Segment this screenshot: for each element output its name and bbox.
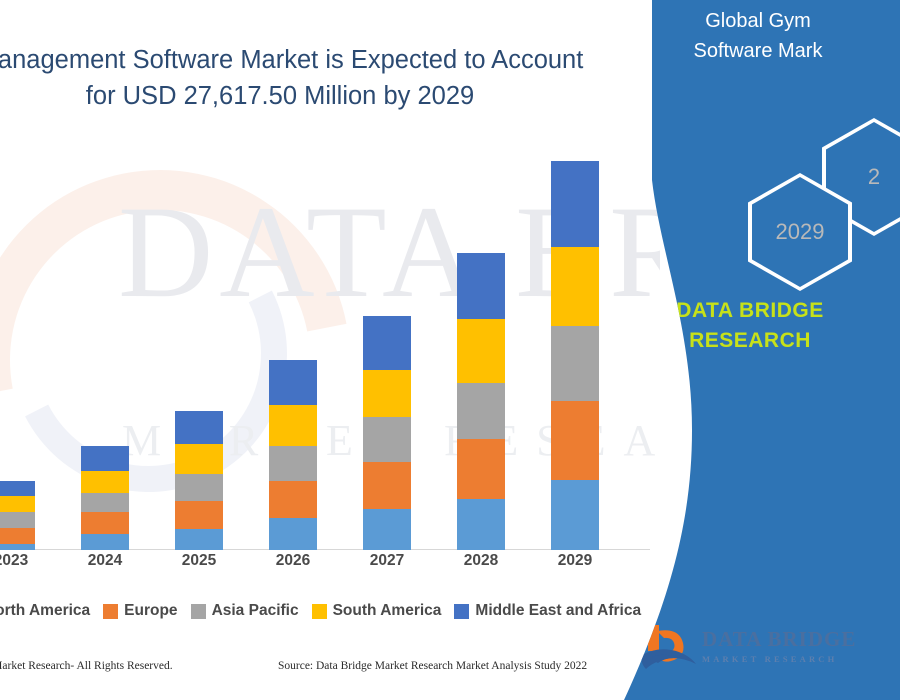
x-tick-2025: 2025	[159, 552, 239, 570]
bar-segment[interactable]	[363, 462, 411, 509]
bar-segment[interactable]	[81, 471, 129, 493]
x-axis-tick-labels: 2023202420252026202720282029	[0, 552, 650, 578]
chart-plot-area	[0, 150, 650, 550]
x-tick-2024: 2024	[65, 552, 145, 570]
bar-segment[interactable]	[457, 253, 505, 319]
bar-segment[interactable]	[175, 529, 223, 550]
legend-swatch	[103, 604, 118, 619]
logo-subtitle: MARKET RESEARCH	[702, 654, 892, 664]
bar-segment[interactable]	[551, 161, 599, 246]
bar-column-2025[interactable]	[175, 411, 223, 550]
bar-segment[interactable]	[457, 439, 505, 499]
bar-segment[interactable]	[0, 528, 35, 544]
x-tick-2026: 2026	[253, 552, 333, 570]
x-tick-2028: 2028	[441, 552, 521, 570]
bar-segment[interactable]	[175, 444, 223, 474]
bar-segment[interactable]	[0, 512, 35, 528]
bar-segment[interactable]	[551, 326, 599, 402]
bar-segment[interactable]	[0, 496, 35, 512]
legend-label: Asia Pacific	[212, 602, 299, 620]
footer: Bridge Market Research- All Rights Reser…	[0, 660, 660, 688]
bar-segment[interactable]	[269, 405, 317, 446]
bar-column-2023[interactable]	[0, 481, 35, 551]
legend-swatch	[454, 604, 469, 619]
bar-segment[interactable]	[457, 499, 505, 550]
legend-item-north-america[interactable]: North America	[0, 602, 90, 620]
x-tick-2027: 2027	[347, 552, 427, 570]
infographic-canvas: DATA BRIDGE MARKET RESEARCH Management S…	[0, 0, 900, 700]
hexagon-secondary-label: 2	[868, 164, 880, 190]
bar-segment[interactable]	[269, 481, 317, 519]
x-tick-2029: 2029	[535, 552, 615, 570]
data-bridge-logo: DATA BRIDGE MARKET RESEARCH	[640, 619, 890, 681]
legend-item-south-america[interactable]: South America	[312, 602, 442, 620]
bar-column-2028[interactable]	[457, 253, 505, 550]
chart-legend: North AmericaEuropeAsia PacificSouth Ame…	[0, 598, 650, 624]
bar-segment[interactable]	[551, 401, 599, 480]
bar-segment[interactable]	[269, 518, 317, 550]
bar-segment[interactable]	[363, 509, 411, 550]
bar-segment[interactable]	[0, 481, 35, 497]
bar-segment[interactable]	[457, 383, 505, 440]
data-bridge-logo-mark	[640, 621, 698, 677]
bar-segment[interactable]	[175, 474, 223, 501]
bar-segment[interactable]	[175, 501, 223, 529]
legend-label: Europe	[124, 602, 177, 620]
x-tick-2023: 2023	[0, 552, 51, 570]
bar-segment[interactable]	[551, 480, 599, 550]
bar-segment[interactable]	[0, 544, 35, 550]
legend-label: North America	[0, 602, 90, 620]
stacked-bar-chart	[0, 150, 650, 550]
logo-title: DATA BRIDGE	[702, 627, 892, 652]
bar-column-2027[interactable]	[363, 316, 411, 550]
footer-copyright: Bridge Market Research- All Rights Reser…	[0, 660, 173, 672]
bar-segment[interactable]	[81, 512, 129, 534]
legend-label: South America	[333, 602, 442, 620]
page-title-line2: for USD 27,617.50 Million by 2029	[0, 78, 600, 114]
hexagon-2029-label: 2029	[776, 219, 825, 245]
legend-swatch	[191, 604, 206, 619]
bar-column-2026[interactable]	[269, 360, 317, 550]
page-title-line1: Management Software Market is Expected t…	[0, 46, 583, 74]
legend-item-asia-pacific[interactable]: Asia Pacific	[191, 602, 299, 620]
legend-label: Middle East and Africa	[475, 602, 641, 620]
bar-segment[interactable]	[551, 247, 599, 326]
bar-segment[interactable]	[81, 493, 129, 512]
bar-segment[interactable]	[269, 446, 317, 481]
bar-segment[interactable]	[175, 411, 223, 444]
legend-item-europe[interactable]: Europe	[103, 602, 177, 620]
bar-segment[interactable]	[363, 417, 411, 461]
page-title: Management Software Market is Expected t…	[0, 42, 600, 114]
footer-source: Source: Data Bridge Market Research Mark…	[278, 660, 587, 672]
bar-segment[interactable]	[363, 370, 411, 417]
bar-segment[interactable]	[457, 319, 505, 382]
bar-column-2024[interactable]	[81, 446, 129, 550]
legend-swatch	[312, 604, 327, 619]
bar-segment[interactable]	[269, 360, 317, 404]
bar-column-2029[interactable]	[551, 161, 599, 550]
bar-segment[interactable]	[363, 316, 411, 370]
bar-segment[interactable]	[81, 534, 129, 550]
panel-brand-line1: DATA BRIDGE	[676, 299, 823, 322]
bar-segment[interactable]	[81, 446, 129, 471]
data-bridge-logo-text: DATA BRIDGE MARKET RESEARCH	[702, 627, 892, 664]
legend-item-middle-east-and-africa[interactable]: Middle East and Africa	[454, 602, 641, 620]
